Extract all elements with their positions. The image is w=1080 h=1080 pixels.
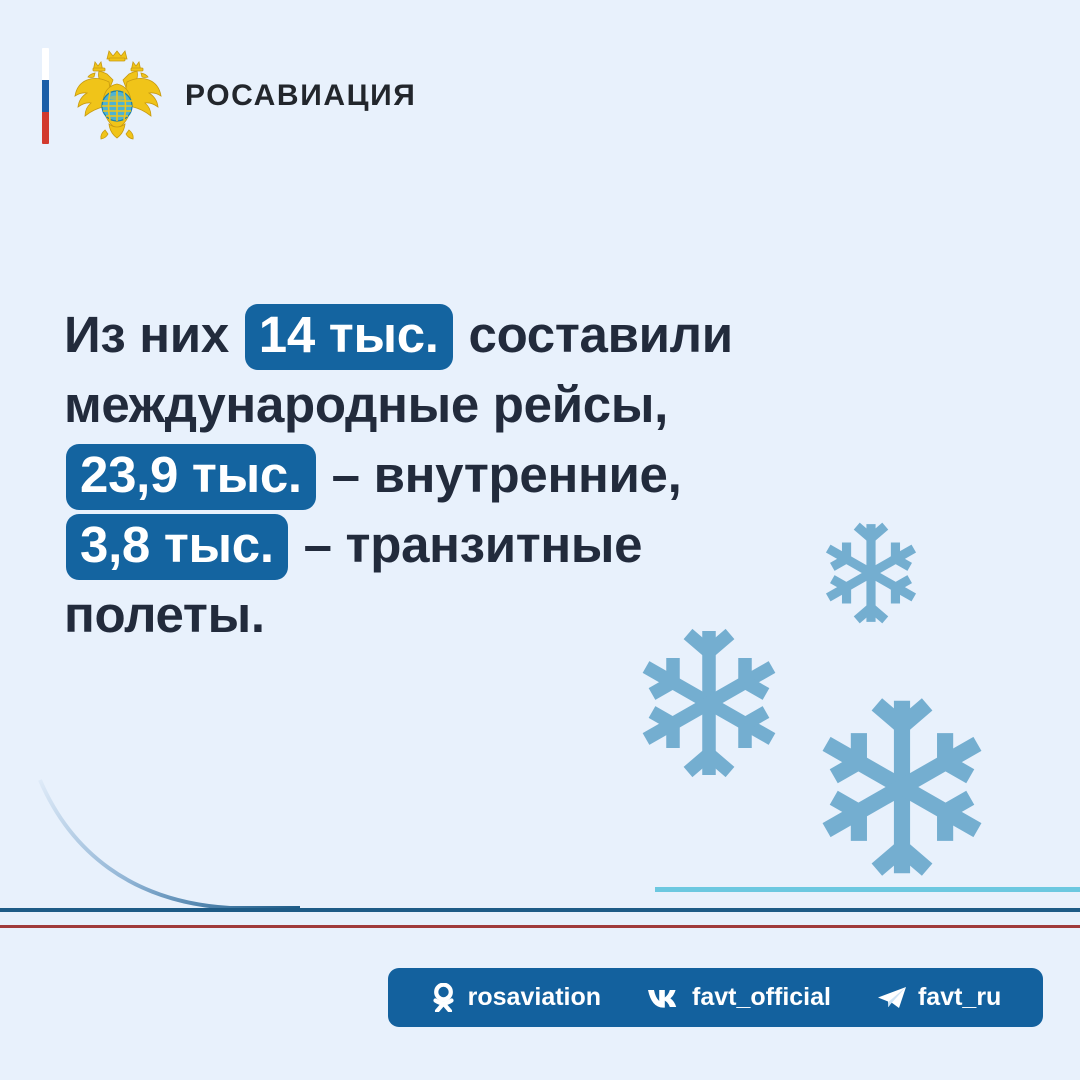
social-link-telegram[interactable]: favt_ru: [877, 983, 1001, 1012]
social-handle-vk: favt_official: [692, 983, 831, 1012]
social-link-odnoklassniki[interactable]: rosaviation: [430, 983, 601, 1012]
russian-double-headed-eagle-emblem-icon: [69, 46, 165, 146]
headline-line1-suffix: составили: [469, 306, 733, 363]
headline-highlight-domestic: 23,9 тыс.: [66, 444, 316, 510]
brand-header: РОСАВИАЦИЯ: [42, 44, 416, 148]
snowflake-icon: [812, 690, 992, 884]
flag-band-blue: [42, 80, 49, 112]
odnoklassniki-icon: [430, 983, 457, 1012]
headline-line4-suffix: – транзитные: [304, 516, 643, 573]
telegram-icon: [877, 985, 907, 1011]
headline-highlight-transit: 3,8 тыс.: [66, 514, 288, 580]
flag-band-red: [42, 112, 49, 144]
russian-flag-stripe-icon: [42, 48, 49, 144]
social-links-bar: rosaviation favt_official favt_ru: [388, 968, 1043, 1027]
headline-highlight-international: 14 тыс.: [245, 304, 453, 370]
headline-line-1: Из них 14 тыс. составили: [64, 300, 904, 370]
poster-canvas: РОСАВИАЦИЯ Из них 14 тыс. составили межд…: [0, 0, 1080, 1080]
vk-icon: [647, 987, 681, 1009]
headline-line1-prefix: Из них: [64, 306, 229, 363]
social-handle-telegram: favt_ru: [918, 983, 1001, 1012]
social-handle-odnoklassniki: rosaviation: [468, 983, 601, 1012]
divider-line-red: [0, 925, 1080, 928]
headline-line-4: 3,8 тыс. – транзитные: [64, 510, 904, 580]
headline-line-2: международные рейсы,: [64, 370, 904, 440]
brand-name: РОСАВИАЦИЯ: [185, 79, 416, 113]
flag-band-white: [42, 48, 49, 80]
decorative-curve-icon: [0, 770, 420, 920]
accent-line-cyan: [655, 887, 1080, 892]
headline-line3-suffix: – внутренние,: [332, 446, 682, 503]
snowflake-icon: [634, 622, 784, 784]
headline-line-3: 23,9 тыс. – внутренние,: [64, 440, 904, 510]
divider-line-dark: [0, 908, 1080, 912]
social-link-vk[interactable]: favt_official: [647, 983, 831, 1012]
snowflake-icon: [820, 518, 922, 628]
headline-block: Из них 14 тыс. составили международные р…: [64, 300, 904, 650]
